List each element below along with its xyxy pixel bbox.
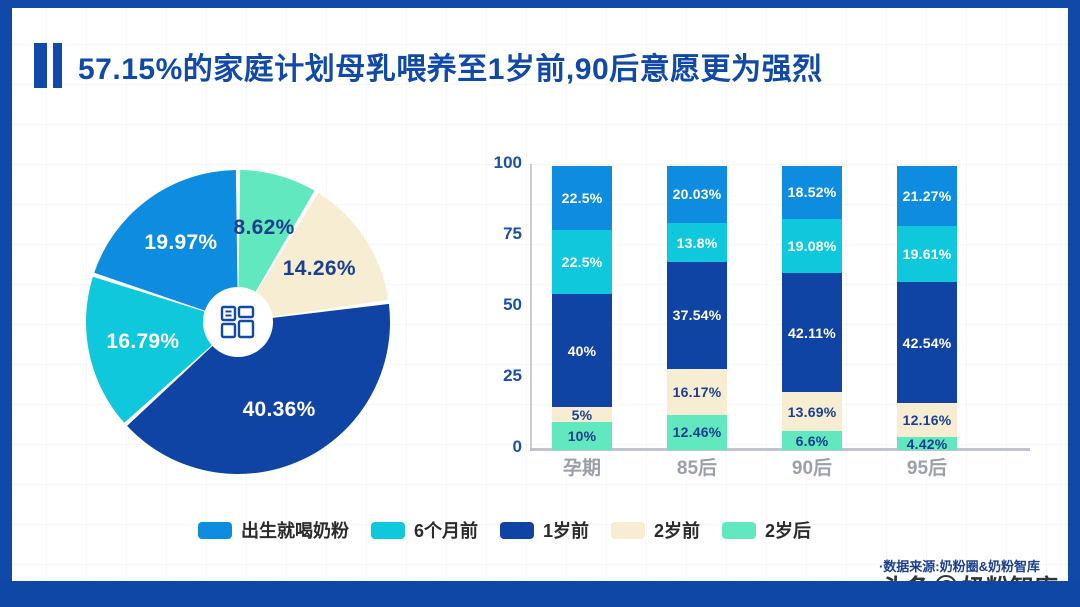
- legend-swatch: [611, 522, 645, 539]
- bar-segment: 13.8%: [667, 223, 727, 262]
- chart-legend: 出生就喝奶粉6个月前1岁前2岁前2岁后: [198, 517, 811, 543]
- y-axis-line: [530, 164, 532, 450]
- x-axis-category-label: 85后: [652, 453, 742, 480]
- pie-slice-label: 14.26%: [283, 257, 356, 281]
- legend-label: 出生就喝奶粉: [241, 517, 349, 543]
- bar-segment: 12.16%: [897, 403, 957, 438]
- legend-item-before6m[interactable]: 6个月前: [371, 517, 478, 543]
- legend-label: 6个月前: [414, 517, 478, 543]
- bar-segment: 21.27%: [897, 166, 957, 226]
- bar-segment: 19.08%: [782, 219, 842, 273]
- pie-chart: 8.62%14.26%40.36%16.79%19.97%: [72, 156, 452, 516]
- bar-segment: 12.46%: [667, 415, 727, 450]
- legend-label: 2岁后: [765, 517, 811, 543]
- x-axis-category-label: 孕期: [537, 453, 627, 480]
- y-axis-tick-label: 0: [474, 437, 522, 457]
- legend-item-before2y[interactable]: 2岁前: [611, 517, 700, 543]
- y-axis-tick-label: 75: [474, 224, 522, 244]
- bar-segment: 5%: [552, 407, 612, 421]
- bar-column: 18.52%19.08%42.11%13.69%6.6%: [782, 166, 842, 450]
- pie-slice-label: 16.79%: [106, 330, 179, 354]
- bar-segment: 40%: [552, 294, 612, 408]
- bar-segment: 10%: [552, 422, 612, 450]
- slide-canvas: 57.15%的家庭计划母乳喂养至1岁前,90后意愿更为强烈 8.62%14.26…: [12, 8, 1068, 581]
- page-title: 57.15%的家庭计划母乳喂养至1岁前,90后意愿更为强烈: [34, 43, 823, 88]
- bar-segment: 4.42%: [897, 437, 957, 450]
- title-accent-bar-thick: [34, 43, 47, 88]
- bar-segment: 13.69%: [782, 392, 842, 431]
- legend-item-after2y[interactable]: 2岁后: [722, 517, 811, 543]
- title-text: 57.15%的家庭计划母乳喂养至1岁前,90后意愿更为强烈: [78, 44, 823, 88]
- x-axis-category-label: 90后: [767, 453, 857, 480]
- dashboard-grid-icon: [218, 302, 258, 342]
- pie-center-badge: [203, 287, 273, 357]
- title-accent-bar-thin: [53, 43, 62, 88]
- legend-swatch: [198, 522, 232, 539]
- bar-segment: 6.6%: [782, 431, 842, 450]
- pie-slice-label: 8.62%: [233, 216, 294, 240]
- pie-slice-label: 40.36%: [243, 398, 316, 422]
- legend-label: 1岁前: [543, 517, 589, 543]
- y-axis-tick-label: 100: [474, 153, 522, 173]
- bar-segment: 22.5%: [552, 230, 612, 294]
- y-axis-tick-label: 25: [474, 366, 522, 386]
- legend-item-birth[interactable]: 出生就喝奶粉: [198, 517, 349, 543]
- legend-swatch: [371, 522, 405, 539]
- legend-swatch: [722, 522, 756, 539]
- bar-segment: 42.54%: [897, 282, 957, 403]
- bar-segment: 22.5%: [552, 166, 612, 230]
- bar-segment: 37.54%: [667, 262, 727, 369]
- bar-segment: 20.03%: [667, 166, 727, 223]
- bar-segment: 42.11%: [782, 273, 842, 393]
- legend-label: 2岁前: [654, 517, 700, 543]
- bar-column: 20.03%13.8%37.54%16.17%12.46%: [667, 166, 727, 450]
- legend-swatch: [500, 522, 534, 539]
- page-frame: 57.15%的家庭计划母乳喂养至1岁前,90后意愿更为强烈 8.62%14.26…: [0, 0, 1080, 607]
- legend-item-before1y[interactable]: 1岁前: [500, 517, 589, 543]
- bar-column: 22.5%22.5%40%5%10%: [552, 166, 612, 450]
- bar-segment: 18.52%: [782, 166, 842, 219]
- bar-segment: 16.17%: [667, 369, 727, 415]
- bottom-accent-bar: [0, 581, 1080, 607]
- stacked-bar-chart: 0255075100 22.5%22.5%40%5%10%20.03%13.8%…: [474, 156, 1034, 486]
- x-axis-category-label: 95后: [882, 453, 972, 480]
- pie-slice-label: 19.97%: [144, 231, 217, 255]
- bar-column: 21.27%19.61%42.54%12.16%4.42%: [897, 166, 957, 450]
- y-axis-tick-label: 50: [474, 295, 522, 315]
- bar-segment: 19.61%: [897, 226, 957, 282]
